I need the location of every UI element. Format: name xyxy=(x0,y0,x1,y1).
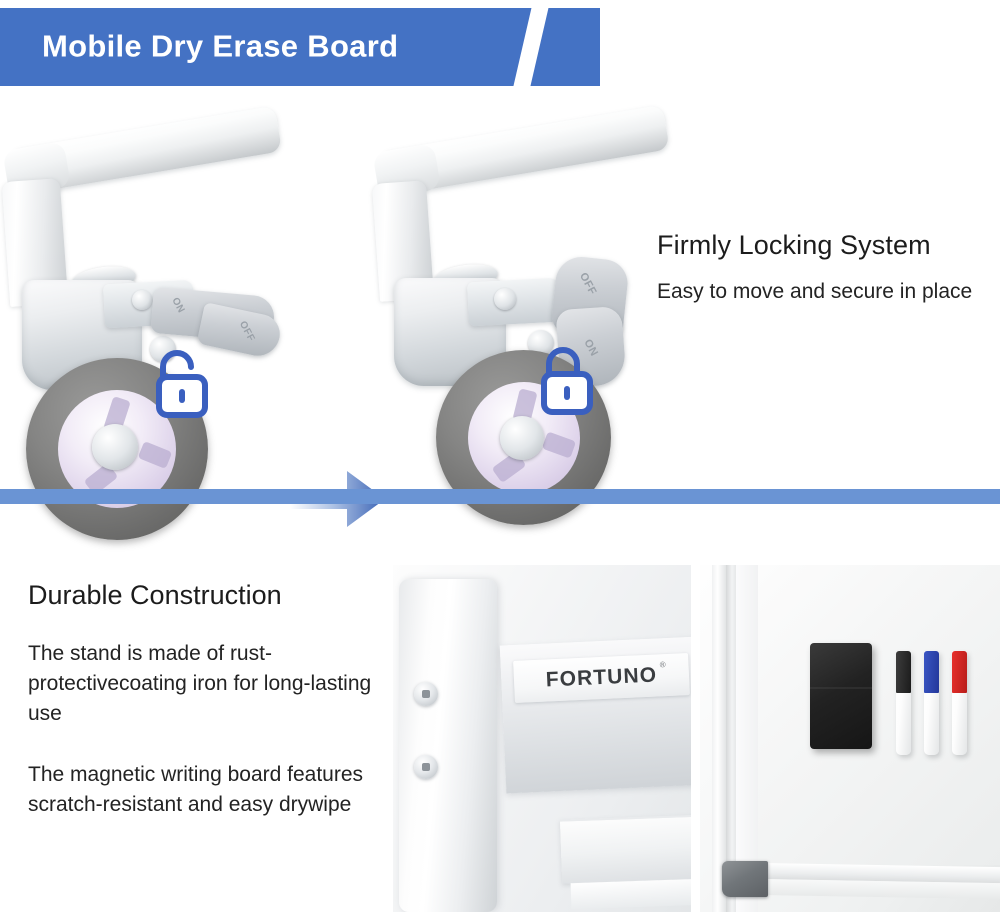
board-frame-bottom xyxy=(756,879,1000,899)
brand-name: FORTUNO® xyxy=(545,663,658,692)
board-frame-edge xyxy=(736,565,758,912)
marker-tray-lip xyxy=(571,879,691,910)
board-frame-edge xyxy=(726,565,736,912)
wheel-axle-cap xyxy=(92,424,138,470)
locked-padlock-icon xyxy=(530,342,596,423)
marker-cap xyxy=(952,651,967,693)
wheel-spoke xyxy=(138,441,173,469)
fork-rivet xyxy=(494,288,516,310)
durable-paragraph-1: The stand is made of rust-protectivecoat… xyxy=(28,639,388,728)
marker-cap xyxy=(896,651,911,693)
caster-photo-locked: OFF ON xyxy=(376,140,676,480)
diagonal-slash-icon xyxy=(509,8,551,86)
section-divider xyxy=(0,489,1000,504)
locking-system-section: ON OFF xyxy=(0,140,1000,485)
eraser xyxy=(810,643,872,749)
durable-construction-heading: Durable Construction xyxy=(28,580,388,611)
unlocked-padlock-icon xyxy=(145,345,211,426)
marker-black xyxy=(896,651,911,755)
marker-cap xyxy=(924,651,939,693)
page-title: Mobile Dry Erase Board xyxy=(42,28,398,64)
marker-red xyxy=(952,651,967,755)
board-corner-cap xyxy=(722,861,768,897)
stand-pole xyxy=(399,579,497,912)
durable-construction-copy: Durable Construction The stand is made o… xyxy=(28,580,388,820)
locking-system-body: Easy to move and secure in place xyxy=(657,277,993,307)
hex-bolt-icon xyxy=(414,755,438,779)
whiteboard-photo xyxy=(700,565,1000,912)
brand-nameplate: FORTUNO® xyxy=(513,653,690,703)
board-frame-edge xyxy=(712,565,726,912)
wheel-spoke xyxy=(542,431,576,458)
caster-photo-unlocked: ON OFF xyxy=(4,140,304,480)
marker-blue xyxy=(924,651,939,755)
durable-paragraph-2: The magnetic writing board features scra… xyxy=(28,760,388,820)
registered-trademark-icon: ® xyxy=(660,660,667,669)
hex-bolt-icon xyxy=(414,682,438,706)
header-banner: Mobile Dry Erase Board xyxy=(0,8,600,86)
product-infographic: Mobile Dry Erase Board ON OFF xyxy=(0,0,1000,912)
locking-system-heading: Firmly Locking System xyxy=(657,230,993,261)
durable-construction-section: Durable Construction The stand is made o… xyxy=(0,504,1000,912)
locking-system-copy: Firmly Locking System Easy to move and s… xyxy=(657,230,993,307)
fork-rivet xyxy=(132,290,152,310)
stand-photo: FORTUNO® xyxy=(393,565,691,912)
marker-tray xyxy=(560,814,691,883)
